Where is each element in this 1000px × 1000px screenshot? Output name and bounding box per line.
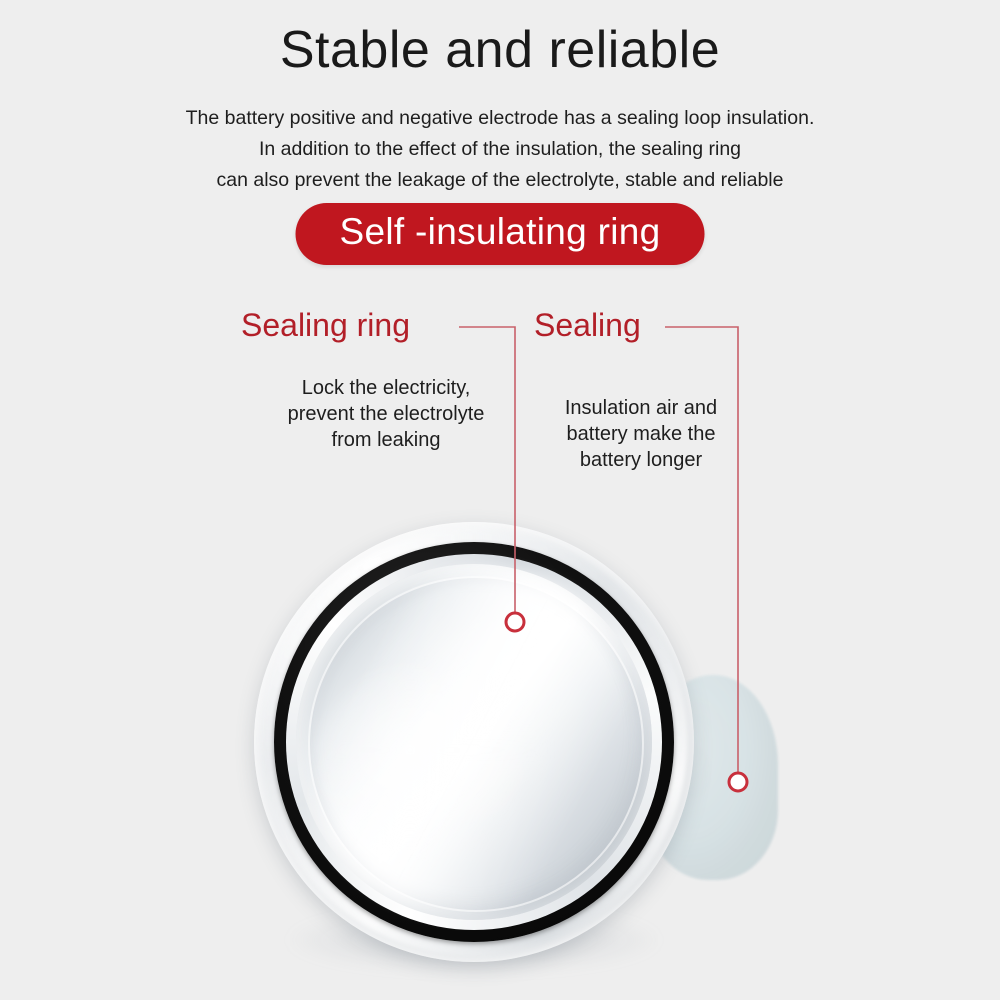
- page-title: Stable and reliable: [0, 22, 1000, 79]
- callout-right-line-2: battery make the: [527, 421, 755, 447]
- description-line-3: can also prevent the leakage of the elec…: [0, 165, 1000, 196]
- feature-banner: Self -insulating ring: [296, 203, 705, 265]
- callout-left-line-1: Lock the electricity,: [252, 375, 520, 401]
- description-line-2: In addition to the effect of the insulat…: [0, 134, 1000, 165]
- callout-label-sealing-ring: Sealing ring: [241, 308, 410, 343]
- callout-right-line-1: Insulation air and: [527, 395, 755, 421]
- callout-left-line-2: prevent the electrolyte: [252, 401, 520, 427]
- coin-cell-battery-illustration: [248, 510, 778, 980]
- feature-banner-label: Self -insulating ring: [340, 211, 661, 254]
- callout-description-sealing: Insulation air and battery make the batt…: [527, 395, 755, 473]
- callout-label-sealing: Sealing: [534, 308, 641, 343]
- infographic-page: Stable and reliable The battery positive…: [0, 0, 1000, 1000]
- callout-right-line-3: battery longer: [527, 447, 755, 473]
- callout-description-sealing-ring: Lock the electricity, prevent the electr…: [252, 375, 520, 453]
- description-line-1: The battery positive and negative electr…: [0, 103, 1000, 134]
- page-description: The battery positive and negative electr…: [0, 103, 1000, 196]
- battery-cap-glow: [318, 660, 548, 860]
- callout-left-line-3: from leaking: [252, 427, 520, 453]
